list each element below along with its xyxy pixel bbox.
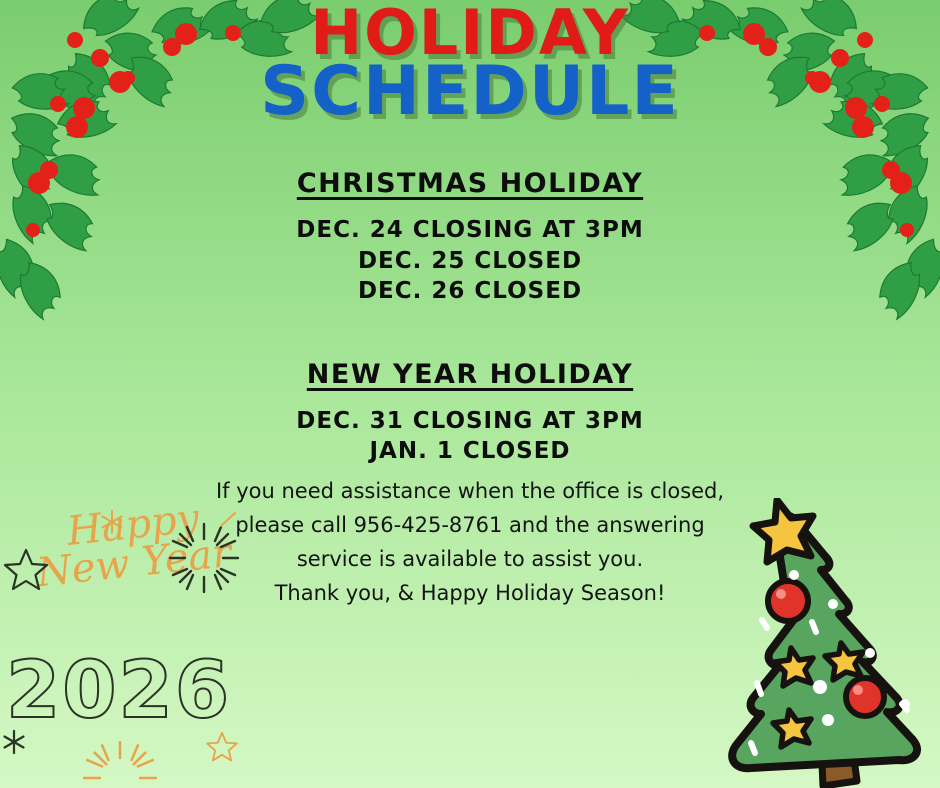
star-outline-dark-icon bbox=[2, 546, 50, 594]
year-2026-outline: 2026 bbox=[6, 646, 231, 736]
christmas-holiday-line: DEC. 26 CLOSED bbox=[0, 276, 940, 307]
new-year-holiday-section: NEW YEAR HOLIDAY DEC. 31 CLOSING AT 3PM … bbox=[0, 359, 940, 467]
firework-burst-orange-icon bbox=[82, 740, 158, 788]
christmas-holiday-heading: CHRISTMAS HOLIDAY bbox=[0, 168, 940, 199]
asterisk-orange-icon bbox=[98, 508, 126, 536]
new-year-holiday-line: DEC. 31 CLOSING AT 3PM bbox=[0, 406, 940, 437]
new-year-holiday-heading: NEW YEAR HOLIDAY bbox=[0, 359, 940, 390]
section-spacer bbox=[0, 307, 940, 359]
asterisk-dark-icon bbox=[0, 728, 28, 756]
poster-title: HOLIDAY SCHEDULE bbox=[0, 4, 940, 124]
new-year-holiday-line: JAN. 1 CLOSED bbox=[0, 436, 940, 467]
assistance-note-line: service is available to assist you. bbox=[150, 542, 790, 576]
holiday-schedule-poster: HOLIDAY SCHEDULE CHRISTMAS HOLIDAY DEC. … bbox=[0, 0, 940, 788]
assistance-note-line: please call 956-425-8761 and the answeri… bbox=[150, 508, 790, 542]
christmas-holiday-section: CHRISTMAS HOLIDAY DEC. 24 CLOSING AT 3PM… bbox=[0, 168, 940, 307]
star-outline-orange-icon bbox=[205, 730, 239, 764]
schedule-sections: CHRISTMAS HOLIDAY DEC. 24 CLOSING AT 3PM… bbox=[0, 168, 940, 467]
title-line-schedule: SCHEDULE bbox=[0, 61, 940, 124]
christmas-holiday-line: DEC. 25 CLOSED bbox=[0, 246, 940, 277]
assistance-note-line: Thank you, & Happy Holiday Season! bbox=[150, 576, 790, 610]
assistance-note: If you need assistance when the office i… bbox=[150, 474, 790, 610]
christmas-holiday-line: DEC. 24 CLOSING AT 3PM bbox=[0, 215, 940, 246]
assistance-note-line: If you need assistance when the office i… bbox=[150, 474, 790, 508]
